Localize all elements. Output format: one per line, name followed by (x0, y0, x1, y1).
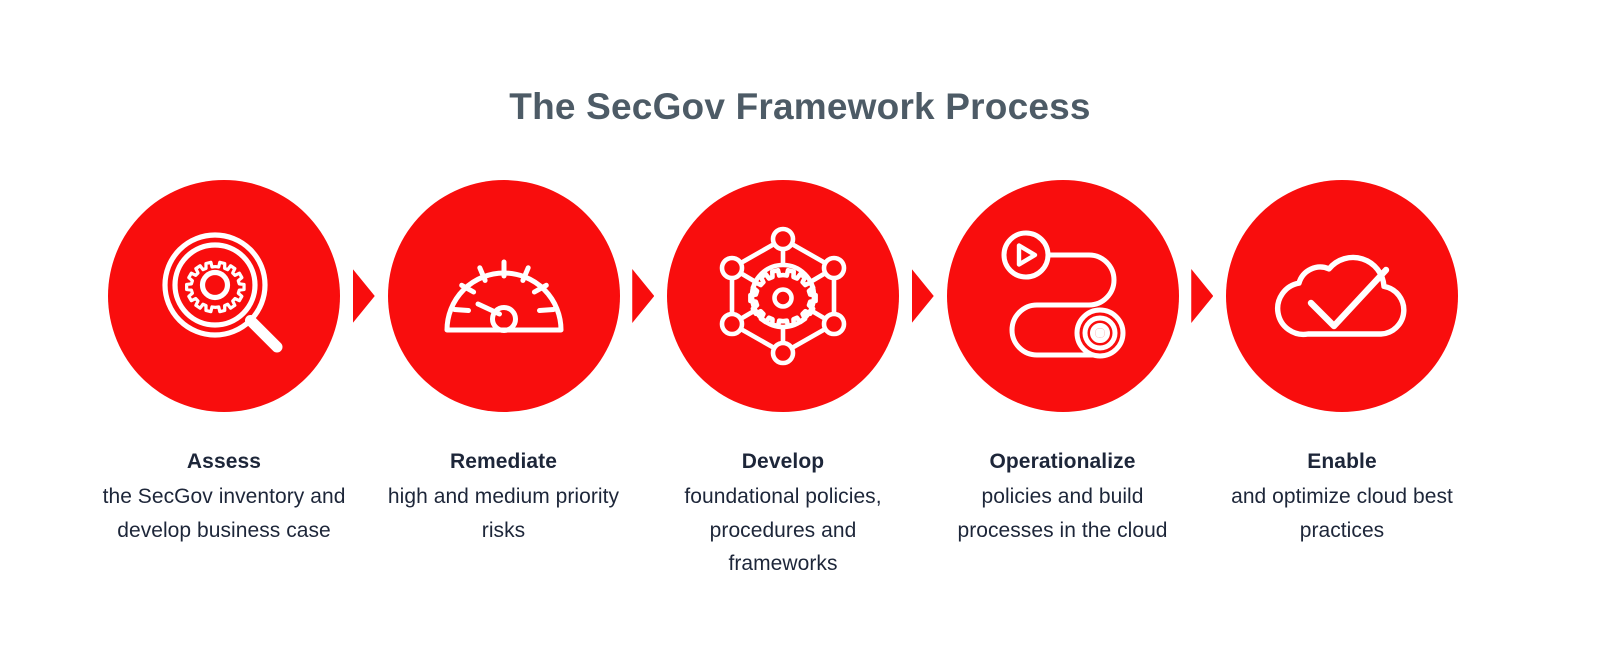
step-icon-circle (1226, 180, 1458, 412)
page-title: The SecGov Framework Process (0, 86, 1600, 128)
step-label: Operationalize (933, 449, 1193, 475)
step-label: Remediate (374, 449, 634, 475)
magnifier-gear-icon (149, 221, 299, 371)
step-label: Enable (1212, 449, 1472, 475)
step-caption: Remediate high and medium priority risks (374, 449, 634, 547)
step-caption: Develop foundational policies, procedure… (653, 449, 913, 581)
process-step-assess[interactable]: Assess the SecGov inventory and develop … (108, 180, 340, 547)
step-icon-circle (108, 180, 340, 412)
step-description: and optimize cloud best practices (1212, 480, 1472, 547)
step-label: Assess (94, 449, 354, 475)
step-description: the SecGov inventory and develop busines… (94, 480, 354, 547)
hexagon-network-gear-icon (708, 221, 858, 371)
secgov-framework-process-infographic: The SecGov Framework Process Assess the … (0, 0, 1600, 667)
chevron-right-icon-2 (632, 269, 654, 323)
step-description: policies and build processes in the clou… (933, 480, 1193, 547)
step-caption: Operationalize policies and build proces… (933, 449, 1193, 547)
step-label: Develop (653, 449, 913, 475)
winding-path-target-icon (988, 221, 1138, 371)
chevron-right-icon-4 (1191, 269, 1213, 323)
step-caption: Enable and optimize cloud best practices (1212, 449, 1472, 547)
step-description: high and medium priority risks (374, 480, 634, 547)
process-step-operationalize[interactable]: Operationalize policies and build proces… (947, 180, 1179, 547)
gauge-icon (434, 226, 574, 366)
step-caption: Assess the SecGov inventory and develop … (94, 449, 354, 547)
process-steps-row: Assess the SecGov inventory and develop … (108, 180, 1458, 581)
step-icon-circle (947, 180, 1179, 412)
process-step-develop[interactable]: Develop foundational policies, procedure… (667, 180, 899, 581)
chevron-right-icon-1 (353, 269, 375, 323)
step-description: foundational policies, procedures and fr… (653, 480, 913, 581)
step-icon-circle (388, 180, 620, 412)
step-icon-circle (667, 180, 899, 412)
cloud-check-icon (1264, 218, 1420, 374)
chevron-right-icon-3 (912, 269, 934, 323)
process-step-remediate[interactable]: Remediate high and medium priority risks (388, 180, 620, 547)
process-step-enable[interactable]: Enable and optimize cloud best practices (1226, 180, 1458, 547)
